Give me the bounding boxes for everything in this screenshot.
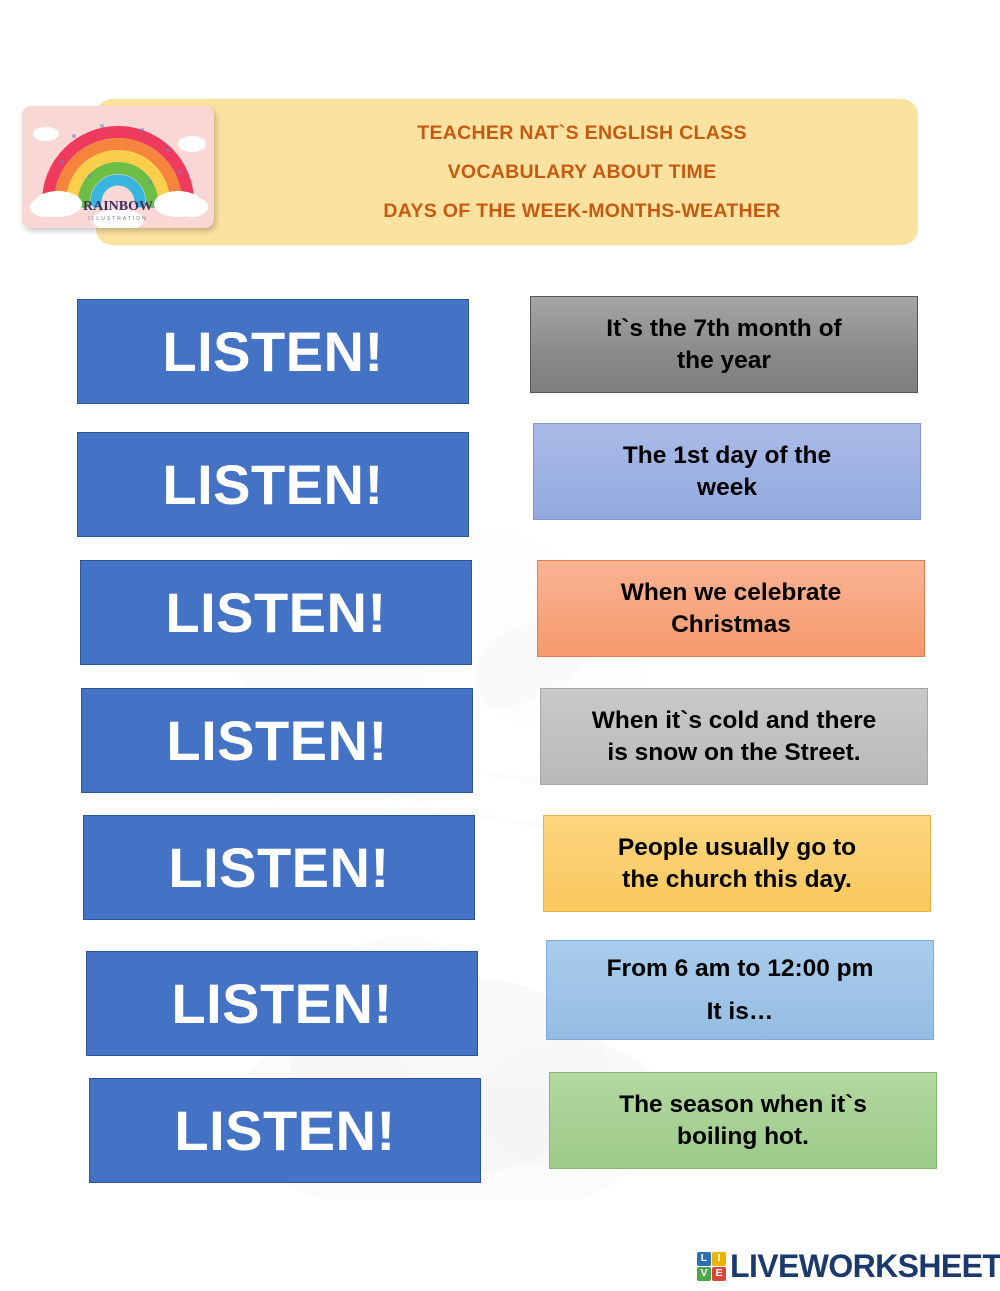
rainbow-logo: RAINBOW ILLUSTRATION <box>22 106 214 228</box>
answer-line-2: boiling hot. <box>619 1121 867 1152</box>
header-line-3: DAYS OF THE WEEK-MONTHS-WEATHER <box>383 200 780 223</box>
listen-button-label: LISTEN! <box>162 452 383 517</box>
answer-card-1[interactable]: It`s the 7th month ofthe year <box>530 296 918 393</box>
listen-button-2[interactable]: LISTEN! <box>77 432 469 537</box>
lw-cell-e: E <box>712 1267 726 1281</box>
header-title-block: TEACHER NAT`S ENGLISH CLASS VOCABULARY A… <box>246 99 918 245</box>
listen-button-4[interactable]: LISTEN! <box>81 688 473 793</box>
header-banner: TEACHER NAT`S ENGLISH CLASS VOCABULARY A… <box>96 99 918 245</box>
listen-button-label: LISTEN! <box>166 708 387 773</box>
listen-button-label: LISTEN! <box>171 971 392 1036</box>
answer-card-7[interactable]: The season when it`sboiling hot. <box>549 1072 937 1169</box>
answer-card-6[interactable]: From 6 am to 12:00 pmIt is… <box>546 940 934 1040</box>
answer-line-2: Christmas <box>621 609 842 640</box>
listen-button-label: LISTEN! <box>165 580 386 645</box>
liveworksheets-logo[interactable]: L I V E LIVEWORKSHEETS <box>697 1250 1000 1282</box>
listen-button-3[interactable]: LISTEN! <box>80 560 472 665</box>
liveworksheets-icon: L I V E <box>697 1252 726 1281</box>
listen-button-label: LISTEN! <box>168 835 389 900</box>
answer-card-2[interactable]: The 1st day of theweek <box>533 423 921 520</box>
answer-card-4[interactable]: When it`s cold and thereis snow on the S… <box>540 688 928 785</box>
answer-line-2: week <box>623 472 831 503</box>
answer-line-1: The season when it`s <box>619 1089 867 1120</box>
answer-card-5[interactable]: People usually go tothe church this day. <box>543 815 931 912</box>
listen-button-7[interactable]: LISTEN! <box>89 1078 481 1183</box>
listen-button-5[interactable]: LISTEN! <box>83 815 475 920</box>
answer-line-1: People usually go to <box>618 832 856 863</box>
answer-line-2: It is… <box>607 996 874 1027</box>
liveworksheets-wordmark: LIVEWORKSHEETS <box>730 1250 1000 1282</box>
logo-subtitle: ILLUSTRATION <box>88 216 147 222</box>
lw-cell-i: I <box>712 1252 726 1266</box>
lw-cell-v: V <box>697 1267 711 1281</box>
answer-line-2: is snow on the Street. <box>592 737 877 768</box>
listen-button-label: LISTEN! <box>174 1098 395 1163</box>
header-line-2: VOCABULARY ABOUT TIME <box>448 161 717 184</box>
header-line-1: TEACHER NAT`S ENGLISH CLASS <box>417 122 747 145</box>
lw-cell-l: L <box>697 1252 711 1266</box>
listen-button-label: LISTEN! <box>162 319 383 384</box>
answer-line-2: the year <box>606 345 841 376</box>
answer-line-1: When we celebrate <box>621 577 842 608</box>
answer-line-1: When it`s cold and there <box>592 705 877 736</box>
listen-button-1[interactable]: LISTEN! <box>77 299 469 404</box>
answer-line-1: It`s the 7th month of <box>606 313 841 344</box>
answer-card-3[interactable]: When we celebrateChristmas <box>537 560 925 657</box>
answer-line-1: From 6 am to 12:00 pm <box>607 953 874 984</box>
listen-button-6[interactable]: LISTEN! <box>86 951 478 1056</box>
logo-word: RAINBOW <box>83 199 153 214</box>
answer-line-1: The 1st day of the <box>623 440 831 471</box>
answer-line-2: the church this day. <box>618 864 856 895</box>
